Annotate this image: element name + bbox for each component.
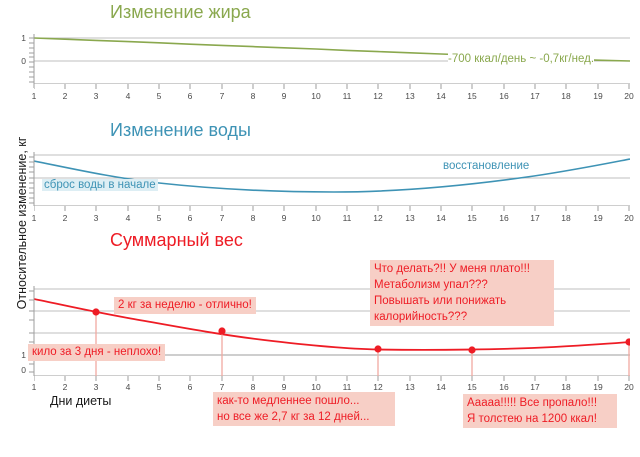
xtick-water-2: 2 [63,213,68,223]
xtick-water-17: 17 [530,213,539,223]
xtick-total-6: 6 [188,382,193,392]
chart-fat-y-ticks [26,30,36,88]
annotation-plateau-line2: Метаболизм упал??? [374,277,550,293]
xtick-water-9: 9 [282,213,287,223]
xtick-total-2: 2 [63,382,68,392]
xtick-fat-8: 8 [251,91,256,101]
xtick-total-14: 14 [436,382,445,392]
chart-fat-x-ticks [34,84,630,90]
chart-total-ytick-0: 0 [4,365,26,375]
xtick-fat-17: 17 [530,91,539,101]
xtick-fat-7: 7 [220,91,225,101]
xtick-water-4: 4 [126,213,131,223]
xtick-total-7: 7 [220,382,225,392]
annotation-water-recovery: восстановление [443,160,529,172]
xtick-water-12: 12 [373,213,382,223]
xtick-total-8: 8 [251,382,256,392]
chart-total-x-ticks [34,376,630,382]
annotation-slower: как-то медленнее пошло... но все же 2,7 … [213,392,395,426]
xtick-total-20: 20 [624,382,633,392]
xtick-fat-11: 11 [343,91,352,101]
xtick-total-11: 11 [343,382,352,392]
xtick-fat-9: 9 [282,91,287,101]
chart-water-y-ticks [26,150,36,208]
xtick-fat-20: 20 [624,91,633,101]
xtick-water-13: 13 [405,213,414,223]
xtick-total-3: 3 [94,382,99,392]
xtick-total-1: 1 [32,382,37,392]
xtick-total-13: 13 [405,382,414,392]
annotation-slower-line1: как-то медленнее пошло... [217,393,391,409]
annotation-water-start: сброс воды в начале [42,179,158,191]
x-axis-title: Дни диеты [50,394,111,408]
annotation-plateau-line4: калорийность??? [374,309,550,325]
chart-fat-title: Изменение жира [110,2,251,23]
chart-water-title: Изменение воды [110,120,251,141]
chart-total-title: Суммарный вес [110,230,243,251]
xtick-total-5: 5 [157,382,162,392]
annotation-plateau: Что делать?!! У меня плато!!! Метаболизм… [370,260,554,326]
xtick-fat-1: 1 [32,91,37,101]
xtick-water-5: 5 [157,213,162,223]
xtick-fat-2: 2 [63,91,68,101]
xtick-total-16: 16 [499,382,508,392]
xtick-water-14: 14 [436,213,445,223]
xtick-water-3: 3 [94,213,99,223]
xtick-fat-12: 12 [373,91,382,101]
annotation-plateau-line3: Повышать или понижать [374,293,550,309]
chart-total-y-ticks [26,284,36,378]
xtick-total-18: 18 [561,382,570,392]
xtick-water-15: 15 [467,213,476,223]
xtick-water-19: 19 [593,213,602,223]
annotation-panic-line1: Аааaa!!!!! Все пропало!!! [467,395,613,411]
xtick-fat-6: 6 [188,91,193,101]
xtick-fat-13: 13 [405,91,414,101]
xtick-water-10: 10 [311,213,320,223]
xtick-water-8: 8 [251,213,256,223]
xtick-fat-15: 15 [467,91,476,101]
xtick-fat-18: 18 [561,91,570,101]
xtick-total-9: 9 [282,382,287,392]
annotation-fat-rate: -700 ккал/день ~ -0,7кг/нед. [448,53,594,65]
xtick-fat-3: 3 [94,91,99,101]
xtick-fat-16: 16 [499,91,508,101]
chart-water-x-ticks [34,206,630,212]
xtick-fat-14: 14 [436,91,445,101]
annotation-week-good: 2 кг за неделю - отлично! [114,297,256,314]
chart-fat-ytick-1: 1 [4,33,26,43]
xtick-total-17: 17 [530,382,539,392]
annotation-panic-line2: Я толстею на 1200 ккал! [467,411,613,427]
chart-total-ytick-1: 1 [4,350,26,360]
xtick-fat-10: 10 [311,91,320,101]
figure-canvas: Относительное изменение, кг Изменение жи… [0,0,640,457]
xtick-total-10: 10 [311,382,320,392]
xtick-water-16: 16 [499,213,508,223]
annotation-panic: Аааaa!!!!! Все пропало!!! Я толстею на 1… [463,394,617,428]
annotation-plateau-line1: Что делать?!! У меня плато!!! [374,261,550,277]
annotation-three-days: кило за 3 дня - неплохо! [28,344,165,361]
xtick-water-18: 18 [561,213,570,223]
xtick-fat-19: 19 [593,91,602,101]
annotation-slower-line2: но все же 2,7 кг за 12 дней... [217,409,391,425]
xtick-total-15: 15 [467,382,476,392]
xtick-water-1: 1 [32,213,37,223]
chart-fat-ytick-0: 0 [4,56,26,66]
xtick-total-12: 12 [373,382,382,392]
xtick-water-11: 11 [343,213,352,223]
xtick-total-19: 19 [593,382,602,392]
xtick-water-6: 6 [188,213,193,223]
xtick-water-20: 20 [624,213,633,223]
xtick-fat-5: 5 [157,91,162,101]
xtick-water-7: 7 [220,213,225,223]
xtick-fat-4: 4 [126,91,131,101]
xtick-total-4: 4 [126,382,131,392]
